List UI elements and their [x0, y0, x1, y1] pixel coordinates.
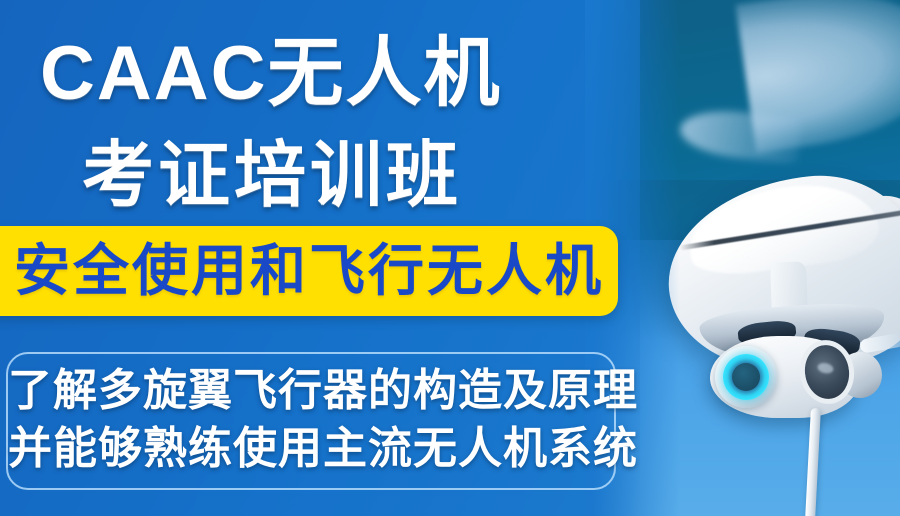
subcopy-box: 了解多旋翼飞行器的构造及原理 并能够熟练使用主流无人机系统: [6, 352, 616, 490]
subcopy-line-1: 了解多旋翼飞行器的构造及原理: [8, 364, 618, 418]
drone-leg-rod: [805, 408, 821, 516]
headline-line-2: 考证培训班: [82, 136, 462, 216]
subcopy-line-2: 并能够熟练使用主流无人机系统: [8, 422, 618, 476]
cyan-glow-lens-icon: [723, 354, 769, 400]
headline-line-1: CAAC无人机: [40, 32, 502, 116]
promo-banner: CAAC无人机 考证培训班 安全使用和飞行无人机 了解多旋翼飞行器的构造及原理 …: [0, 0, 900, 516]
highlight-band-text: 安全使用和飞行无人机: [0, 232, 618, 310]
